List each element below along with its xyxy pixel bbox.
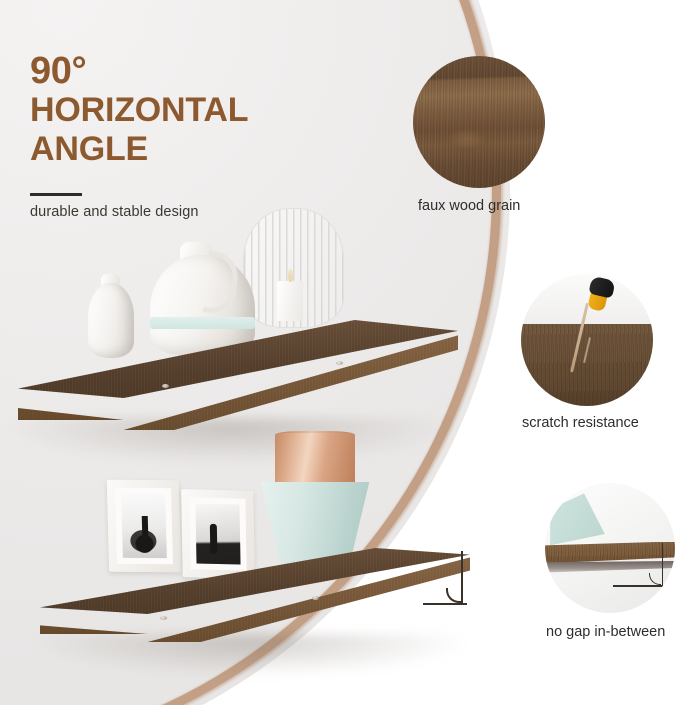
flush-angle-arc-icon xyxy=(649,573,661,585)
lower-floating-shelf xyxy=(40,538,470,648)
headline-line-1: HORIZONTAL xyxy=(30,91,360,130)
copper-vase-top xyxy=(275,433,355,486)
flush-wall-circle-icon xyxy=(545,483,675,613)
scratch-scene-wood-surface xyxy=(521,324,653,406)
callout-label-faux-wood-grain: faux wood grain xyxy=(418,198,520,214)
lower-shelf-screw-right xyxy=(312,596,319,600)
flush-angle-horizontal-line xyxy=(613,585,664,587)
candle-flame-icon xyxy=(288,269,293,282)
scratch-scene-wood-grain xyxy=(521,324,653,406)
awl-scratch-circle-icon xyxy=(521,274,653,406)
lower-shelf-screw-left xyxy=(160,616,167,620)
wood-grain-texture xyxy=(413,56,545,188)
right-angle-indicator xyxy=(423,551,469,609)
headline-degree: 90° xyxy=(30,52,360,91)
callout-label-scratch-resistance: scratch resistance xyxy=(522,415,639,431)
product-feature-graphic: 90° HORIZONTAL ANGLE durable and stable … xyxy=(0,0,679,705)
angle-arc-icon xyxy=(446,588,461,603)
angle-horizontal-line xyxy=(423,603,467,605)
headline-block: 90° HORIZONTAL ANGLE xyxy=(30,52,360,168)
angle-vertical-line xyxy=(461,551,463,603)
callout-label-no-gap-in-between: no gap in-between xyxy=(546,624,665,640)
scratch-scene-wall xyxy=(521,274,653,324)
upper-shelf-screw-left xyxy=(162,384,169,388)
upper-floating-shelf xyxy=(18,300,458,430)
upper-shelf-screw-right xyxy=(336,361,343,365)
headline-subtitle: durable and stable design xyxy=(30,204,199,220)
flush-scene-angle-indicator xyxy=(624,543,663,587)
headline-line-2: ANGLE xyxy=(30,130,360,169)
wood-grain-circle-icon xyxy=(413,56,545,188)
flush-angle-vertical-line xyxy=(662,543,664,587)
headline-divider xyxy=(30,193,82,196)
